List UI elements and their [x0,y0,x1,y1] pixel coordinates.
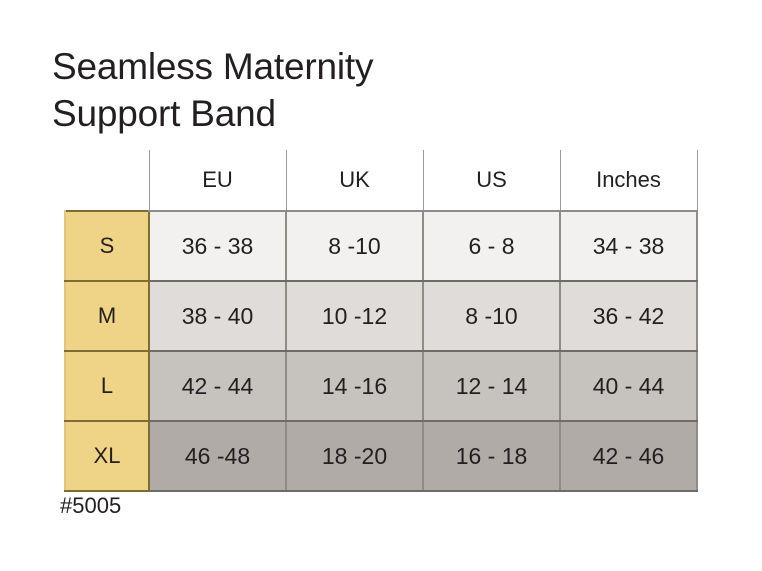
column-header-us: US [423,150,560,211]
cell-l-us: 12 - 14 [423,351,560,421]
cell-l-inches: 40 - 44 [560,351,697,421]
cell-xl-inches: 42 - 46 [560,421,697,491]
column-header-uk: UK [286,150,423,211]
cell-m-eu: 38 - 40 [149,281,286,351]
style-code: #5005 [60,493,121,519]
cell-m-inches: 36 - 42 [560,281,697,351]
cell-l-eu: 42 - 44 [149,351,286,421]
table-row: S 36 - 38 8 -10 6 - 8 34 - 38 [65,211,697,281]
column-header-eu: EU [149,150,286,211]
size-label-l: L [65,351,149,421]
cell-xl-uk: 18 -20 [286,421,423,491]
table-header: EU UK US Inches [65,150,697,211]
cell-xl-eu: 46 -48 [149,421,286,491]
table-row: L 42 - 44 14 -16 12 - 14 40 - 44 [65,351,697,421]
table-header-row: EU UK US Inches [65,150,697,211]
cell-s-eu: 36 - 38 [149,211,286,281]
table-row: XL 46 -48 18 -20 16 - 18 42 - 46 [65,421,697,491]
size-chart-page: Seamless Maternity Support Band EU UK US… [0,0,762,571]
cell-l-uk: 14 -16 [286,351,423,421]
cell-m-uk: 10 -12 [286,281,423,351]
table-corner-header [65,150,149,211]
cell-s-inches: 34 - 38 [560,211,697,281]
size-label-m: M [65,281,149,351]
size-label-xl: XL [65,421,149,491]
cell-s-uk: 8 -10 [286,211,423,281]
table-row: M 38 - 40 10 -12 8 -10 36 - 42 [65,281,697,351]
table-body: S 36 - 38 8 -10 6 - 8 34 - 38 M 38 - 40 … [65,211,697,491]
size-chart-table: EU UK US Inches S 36 - 38 8 -10 6 - 8 34… [64,150,698,492]
cell-xl-us: 16 - 18 [423,421,560,491]
cell-m-us: 8 -10 [423,281,560,351]
page-title: Seamless Maternity Support Band [52,44,652,137]
size-label-s: S [65,211,149,281]
column-header-inches: Inches [560,150,697,211]
cell-s-us: 6 - 8 [423,211,560,281]
